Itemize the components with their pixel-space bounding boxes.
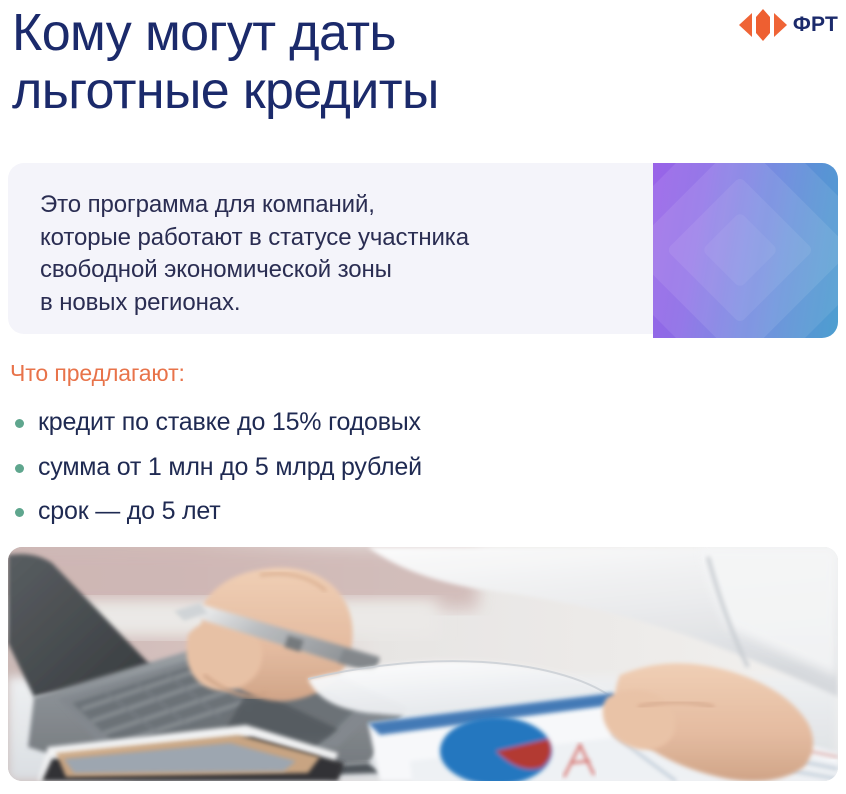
page-title: Кому могут дать льготные кредиты: [12, 4, 672, 120]
gradient-diamond-decoration: [653, 163, 838, 338]
bullet-dot-icon: [15, 464, 24, 473]
list-item-label: сумма от 1 млн до 5 млрд рублей: [38, 453, 422, 481]
frt-diamond-logo-icon: [737, 8, 789, 42]
bullet-dot-icon: [15, 508, 24, 517]
list-item: кредит по ставке до 15% годовых: [10, 408, 650, 438]
offer-list: кредит по ставке до 15% годовых сумма от…: [10, 408, 650, 542]
office-desk-photo: [8, 547, 838, 781]
offer-heading: Что предлагают:: [10, 360, 185, 387]
logo-text: ФРТ: [793, 14, 838, 36]
list-item: срок — до 5 лет: [10, 497, 650, 527]
list-item-label: кредит по ставке до 15% годовых: [38, 408, 421, 436]
list-item-label: срок — до 5 лет: [38, 497, 221, 525]
brand-logo: ФРТ: [737, 8, 838, 42]
infographic-page: Кому могут дать льготные кредиты ФРТ Это…: [0, 0, 846, 794]
header: Кому могут дать льготные кредиты ФРТ: [0, 0, 846, 150]
list-item: сумма от 1 млн до 5 млрд рублей: [10, 453, 650, 483]
bullet-dot-icon: [15, 419, 24, 428]
intro-text: Это программа для компаний, которые рабо…: [40, 189, 640, 320]
